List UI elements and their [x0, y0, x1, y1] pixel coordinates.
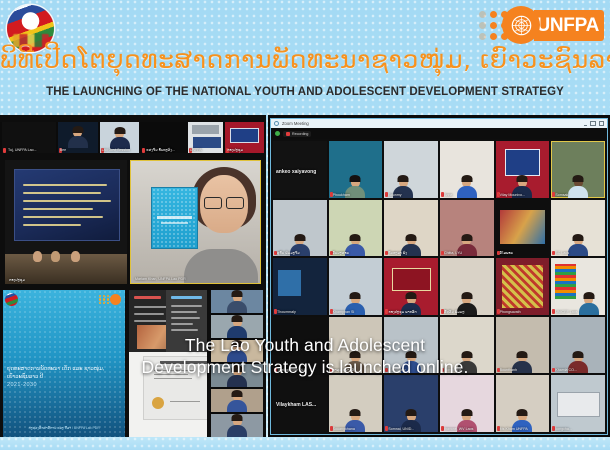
participant-tile[interactable]: thavone, WV Laos [440, 375, 494, 432]
participant-name: ກອງປະຊຸມ [9, 278, 25, 282]
left-thumbnail-strip: Tuj, UNFPA Lao... Bee Lao Govt Session ແ… [0, 122, 266, 153]
thumbnail-tile[interactable]: ກອງປະຊຸມ [225, 122, 264, 153]
banner-lao-title: ພິທີເປີດໂຕຍຸດທະສາດການພັດທະນາຊາວໜຸ່ມ, ເຍົ… [0, 47, 610, 72]
participant-tile[interactable]: UNICEF Laos [551, 258, 605, 315]
report-footer: ກະຊວງສຶກສາທິການ ແລະ ກີລາ / UNFPA Lao PDR [3, 426, 125, 431]
participant-tile[interactable]: Bounmy [384, 141, 438, 198]
participant-name: Mariam Khan, UNFPA Lao PDR [135, 277, 186, 281]
participant-tile[interactable]: Vilay Mounivo... [496, 141, 550, 198]
participant-tile[interactable]: ວິໄລພອນ [496, 200, 550, 257]
participant-tile[interactable]: Khamphan SI [329, 258, 383, 315]
participant-name: ສຸກັນ ພົມມະຈັນ [277, 251, 300, 255]
participant-name: ກອງປະຊຸມ ພາກລັດ [388, 310, 416, 314]
recording-label: Recording [292, 132, 308, 136]
participant-name: SC Laos [555, 251, 569, 255]
thumbnail-tile[interactable] [211, 389, 263, 412]
participant-name: UNFPA [190, 148, 202, 152]
left-meeting-screenshot: Tuj, UNFPA Lao... Bee Lao Govt Session ແ… [0, 115, 266, 437]
participant-tile[interactable]: ຈັນທະລາ ພົງ [384, 200, 438, 257]
slide-column-challenges [166, 290, 207, 352]
right-meeting-screenshot: Zoom Meeting Recording [268, 115, 610, 437]
participant-name: ອາລຸນ ສຸພານຸວົງ [333, 368, 356, 372]
participant-tile[interactable]: Somphone [440, 317, 494, 374]
participant-tile[interactable]: Vilaykham LAS... [273, 375, 327, 432]
left-bottom-row: ຍຸດທະສາດການພັດທະນາ ເດັກ ແລະ ຊາວໜຸ່ມ, ເຍົ… [0, 290, 266, 437]
lao-national-emblem-icon [5, 293, 18, 306]
participant-tile[interactable]: Somnai, UNID... [384, 375, 438, 432]
thumbnail-tile[interactable]: UNFPA [188, 122, 223, 153]
participant-name: Somphone [444, 368, 461, 372]
participant-tile[interactable]: Chitta, LYU [440, 200, 494, 257]
maximize-icon[interactable] [590, 121, 596, 127]
left-side-thumbnail-column [211, 290, 263, 437]
screenshot-root: UNFPA ພິທີເປີດໂຕຍຸດທະສາດການພັດທະນາຊາວໜຸ່… [0, 0, 610, 450]
participant-name: Lao Govt Session [102, 148, 130, 152]
participant-name: Bounmy [388, 193, 401, 197]
eyeglasses-icon [204, 197, 244, 207]
participant-name: Somnai, UNID... [388, 427, 414, 431]
participant-tile[interactable]: ວັນນະສອນ [329, 200, 383, 257]
participant-name: ສີສຸວັນ ພົມມະ [444, 310, 464, 314]
thumbnail-tile[interactable] [211, 414, 263, 437]
participant-tile[interactable]: Souangkhana [329, 375, 383, 432]
record-icon [286, 132, 290, 136]
participant-name: ຈັນທະລາ ພົງ [388, 251, 407, 255]
participant-name: Vilay Mounivo... [500, 193, 525, 197]
report-cover-held [151, 187, 198, 249]
thumbnail-tile[interactable] [211, 364, 263, 387]
thumbnail-tile[interactable]: ແສງຈັນ ອິນທະວົງ... [141, 122, 185, 153]
speaker-torso [184, 249, 258, 283]
zoom-window-titlebar[interactable]: Zoom Meeting [271, 119, 607, 128]
photo-collage: Tuj, UNFPA Lao... Bee Lao Govt Session ແ… [0, 115, 610, 437]
participant-tile[interactable]: Bounthanh [496, 317, 550, 374]
participant-name: Phongsavath [500, 310, 521, 314]
banner-english-title: THE LAUNCHING OF THE NATIONAL YOUTH AND … [0, 86, 610, 98]
zoom-gallery-grid: ankeo xaiyavong Phoukham Bounmy [271, 139, 607, 434]
participant-tile-spotlight[interactable]: Somsak [551, 141, 605, 198]
projector-screen [14, 169, 120, 241]
participant-name: Bounthanh [500, 368, 517, 372]
participant-name: ວິໄລພອນ [500, 251, 513, 255]
zoom-status-bar: Recording [271, 128, 607, 139]
participant-name: ankeo xaiyavong [276, 169, 316, 175]
close-icon[interactable] [599, 121, 605, 127]
strategy-report-cover: ຍຸດທະສາດການພັດທະນາ ເດັກ ແລະ ຊາວໜຸ່ມ, ເຍົ… [3, 290, 125, 437]
participant-name: thavone, WV Laos [444, 427, 473, 431]
slide-heading-right [171, 296, 202, 299]
covid-impact-infographic [143, 356, 207, 420]
participant-tile[interactable]: Thoummaly [273, 258, 327, 315]
thumbnail-tile[interactable] [211, 340, 263, 363]
zoom-app-icon [274, 121, 279, 126]
thumbnail-tile[interactable]: Lao Govt Session [100, 122, 140, 153]
participant-name: Bee [60, 148, 66, 152]
thumbnail-tile[interactable] [211, 290, 263, 313]
presentation-slide [129, 290, 207, 437]
participant-name: Ms Kham UNFPA [500, 427, 528, 431]
participant-name: Khamla CO... [555, 368, 577, 372]
participant-tile[interactable]: ສີສຸວັນ ພົມມະ [440, 258, 494, 315]
participant-tile[interactable]: Khamla CO... [551, 317, 605, 374]
participant-name: ແສງຈັນ ອິນທະວົງ... [146, 148, 175, 152]
participant-name: Phoukham [333, 193, 350, 197]
participant-name: Thatsaphone DLB [277, 368, 306, 372]
participant-name: Souangkhana [333, 427, 355, 431]
participant-tile[interactable]: ankeo xaiyavong [273, 141, 327, 198]
participant-name: Chitta, LYU [444, 251, 462, 255]
minimize-icon[interactable] [584, 122, 588, 126]
participant-tile[interactable]: ສຸກັນ ພົມມະຈັນ [273, 200, 327, 257]
participant-name: UNICEF Laos [555, 310, 577, 314]
thumbnail-tile[interactable] [211, 315, 263, 338]
report-years: 2021-2030 [7, 382, 37, 388]
thumbnail-tile[interactable]: Bee [58, 122, 98, 153]
participant-name: ວັນນະສອນ [333, 251, 349, 255]
participant-tile[interactable]: SC Laos [551, 200, 605, 257]
participant-name: Somsak [555, 193, 568, 197]
unfpa-logo-small [99, 294, 121, 305]
participant-tile[interactable]: Thatsaphone DLB [273, 317, 327, 374]
participant-tile[interactable]: ກອງປະຊຸມ ພາກລັດ [384, 258, 438, 315]
slide-heading-left [134, 296, 161, 299]
unfpa-wordmark: UNFPA [534, 10, 604, 41]
participant-name: Thoummaly [277, 310, 296, 314]
left-main-stage: ກອງປະຊຸມ Mariam Khan, UNFPA Lao PDR [5, 160, 261, 284]
mic-muted-icon [3, 148, 6, 153]
participant-name: Tuj, UNFPA Lao... [8, 148, 37, 152]
participant-name: Vilaykham LAS... [276, 402, 316, 408]
participant-tile[interactable]: kongcha... [551, 375, 605, 432]
conference-room-projection[interactable]: ກອງປະຊຸມ [5, 160, 127, 284]
participant-tile[interactable]: Phoukham [329, 141, 383, 198]
participant-tile[interactable]: Phongsavath [496, 258, 550, 315]
slide-column-objectives [129, 290, 166, 352]
participant-name: ກອງປະຊຸມ [227, 148, 243, 152]
participant-name: Anne [444, 193, 452, 197]
speaker-video-tile[interactable]: Mariam Khan, UNFPA Lao PDR [130, 160, 261, 284]
thumbnail-tile[interactable]: Tuj, UNFPA Lao... [2, 122, 56, 153]
unfpa-logo: UNFPA [479, 4, 604, 46]
zoom-meeting-window: Zoom Meeting Recording [270, 118, 608, 435]
zoom-window-title: Zoom Meeting [282, 121, 309, 126]
participant-tile[interactable]: Ms Kham UNFPA [496, 375, 550, 432]
connection-status-icon [275, 131, 280, 136]
participant-name: Khamphan SI [333, 310, 355, 314]
mic-muted-icon [142, 148, 145, 153]
banner-bottom-band [0, 437, 610, 450]
participant-name: Chanthavy [388, 368, 405, 372]
participant-tile[interactable]: Anne [440, 141, 494, 198]
participant-tile[interactable]: Chanthavy [384, 317, 438, 374]
participant-name: kongcha... [555, 427, 572, 431]
window-controls[interactable] [584, 121, 605, 127]
report-title-lao: ຍຸດທະສາດການພັດທະນາ ເດັກ ແລະ ຊາວໜຸ່ມ, ເຍົ… [7, 366, 121, 382]
slide-two-column [129, 290, 207, 352]
recording-indicator[interactable]: Recording [283, 131, 311, 137]
participant-tile[interactable]: ອາລຸນ ສຸພານຸວົງ [329, 317, 383, 374]
